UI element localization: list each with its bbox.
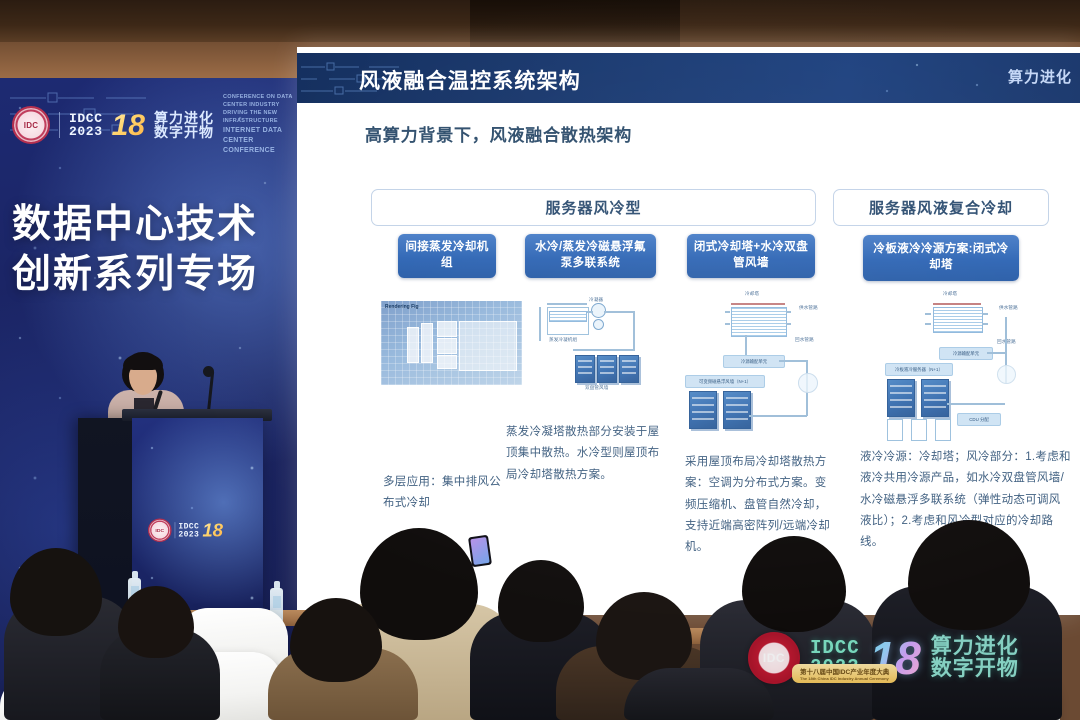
idcc-year: 2023 bbox=[69, 125, 103, 138]
watermark-slogan-line2: 数字开物 bbox=[931, 658, 1019, 680]
podium-edition-number: 18 bbox=[202, 522, 223, 539]
label-pipe-return-3: 回水管路 bbox=[795, 337, 814, 343]
session-title: 数据中心技术 创新系列专场 bbox=[12, 200, 258, 300]
idc-award-seal-icon: IDC bbox=[12, 106, 50, 144]
watermark-ribbon-en: The 18th China IDC Industry Annual Cerem… bbox=[800, 676, 889, 681]
category-box-closed-tower-wall: 闭式冷却塔+水冷双盘管风墙 bbox=[687, 234, 815, 278]
note-column-water-evap-maglev: 蒸发冷凝塔散热部分安装于屋顶集中散热。水冷型则屋顶布局冷却塔散热方案。 bbox=[506, 422, 660, 486]
chip-rack-group-b-4: 冷板液冷服务器（N+1） bbox=[885, 363, 953, 376]
figure-coldplate-liquid-schematic: 冷却塔 供水管路 回水管路 冷源输配单元 冷板液冷服务器（N+1） bbox=[877, 291, 1037, 441]
watermark-slogan: 算力进化 数字开物 bbox=[931, 636, 1019, 680]
figure-evaporative-condenser-schematic: 冷凝器 蒸发冷凝机组 双盘管风墙 bbox=[525, 297, 660, 407]
backdrop-slogan-line1: 算力进化 bbox=[154, 111, 214, 125]
slide-title: 风液融合温控系统架构 bbox=[359, 65, 581, 95]
category-box-water-evap-maglev: 水冷/蒸发冷磁悬浮氟泵多联系统 bbox=[525, 234, 656, 278]
label-cooling-tower-4: 冷却塔 bbox=[943, 291, 957, 297]
watermark-seal-text: IDC bbox=[763, 651, 785, 665]
figure-closed-tower-fanwall-schematic: 冷却塔 供水管路 回水管路 冷源输配单元 可变频磁悬浮风墙（N+1） bbox=[683, 291, 843, 431]
category-box-indirect-evaporative: 间接蒸发冷却机组 bbox=[398, 234, 496, 278]
podium-conference-logo: IDC IDCC 2023 18 bbox=[148, 518, 223, 542]
backdrop-conference-logo: IDC IDCC 2023 18 算力进化 数字开物 CONFERENCE ON… bbox=[12, 94, 295, 156]
smartphone bbox=[468, 535, 492, 567]
watermark-slogan-line1: 算力进化 bbox=[931, 636, 1019, 658]
backdrop-slogan: 算力进化 数字开物 bbox=[154, 111, 214, 140]
group-header-hybrid-liquid: 服务器风液复合冷却 bbox=[833, 189, 1049, 226]
note-column-indirect-evaporative: 多层应用：集中排风公布式冷却 bbox=[383, 472, 503, 515]
idc-seal-text: IDC bbox=[24, 121, 38, 130]
session-title-line2: 创新系列专场 bbox=[12, 250, 258, 300]
event-watermark: IDC IDCC 2023 18 算力进化 数字开物 第十八届中国IDC产业年度… bbox=[748, 632, 1019, 684]
podium-idcc-year: 2023 bbox=[178, 530, 199, 538]
slide-header-brand: 算力进化 bbox=[1008, 66, 1072, 87]
figure-indirect-evaporative-render: Rendering Fig bbox=[381, 301, 522, 385]
logo-divider bbox=[59, 112, 60, 138]
edition-number: 18 bbox=[112, 112, 145, 139]
chip-pump-unit-4: 冷源输配单元 bbox=[939, 347, 993, 360]
podium-idc-seal-text: IDC bbox=[155, 527, 164, 533]
slide-header-band: 风液融合温控系统架构 算力进化 bbox=[297, 53, 1080, 103]
backdrop-english-text: CONFERENCE ON DATA CENTER INDUSTRYDRIVIN… bbox=[223, 94, 295, 156]
session-title-line1: 数据中心技术 bbox=[12, 200, 258, 250]
watermark-ribbon-cn: 第十八届中国IDC产业年度大典 bbox=[800, 669, 889, 676]
group-header-air-cooled: 服务器风冷型 bbox=[371, 189, 816, 226]
conference-photo-scene: IDC IDCC 2023 18 算力进化 数字开物 CONFERENCE ON… bbox=[0, 0, 1080, 720]
idcc-year-block: IDCC 2023 bbox=[69, 112, 103, 138]
slide-subtitle: 高算力背景下，风液融合散热架构 bbox=[365, 121, 632, 146]
label-cooling-tower-3: 冷却塔 bbox=[745, 291, 759, 297]
chip-pump-unit-3: 冷源输配单元 bbox=[723, 355, 785, 368]
label-fan-wall: 双盘管风墙 bbox=[585, 385, 608, 391]
render-tag-label: Rendering Fig bbox=[385, 304, 419, 310]
label-condenser: 冷凝器 bbox=[589, 297, 603, 303]
label-evap-unit: 蒸发冷凝机组 bbox=[549, 337, 577, 343]
backdrop-slogan-line2: 数字开物 bbox=[154, 125, 214, 139]
category-box-coldplate-closed-tower: 冷板液冷冷源方案:闭式冷却塔 bbox=[863, 235, 1019, 281]
chip-cdu-unit-4: CDU 分配 bbox=[957, 413, 1001, 426]
podium-idc-seal-icon: IDC bbox=[148, 518, 172, 542]
chip-rack-group-a-3: 可变频磁悬浮风墙（N+1） bbox=[685, 375, 765, 388]
label-pipe-supply-3: 供水管路 bbox=[799, 305, 818, 311]
watermark-ribbon: 第十八届中国IDC产业年度大典 The 18th China IDC Indus… bbox=[792, 664, 897, 683]
label-pipe-supply-4: 供水管路 bbox=[999, 305, 1018, 311]
